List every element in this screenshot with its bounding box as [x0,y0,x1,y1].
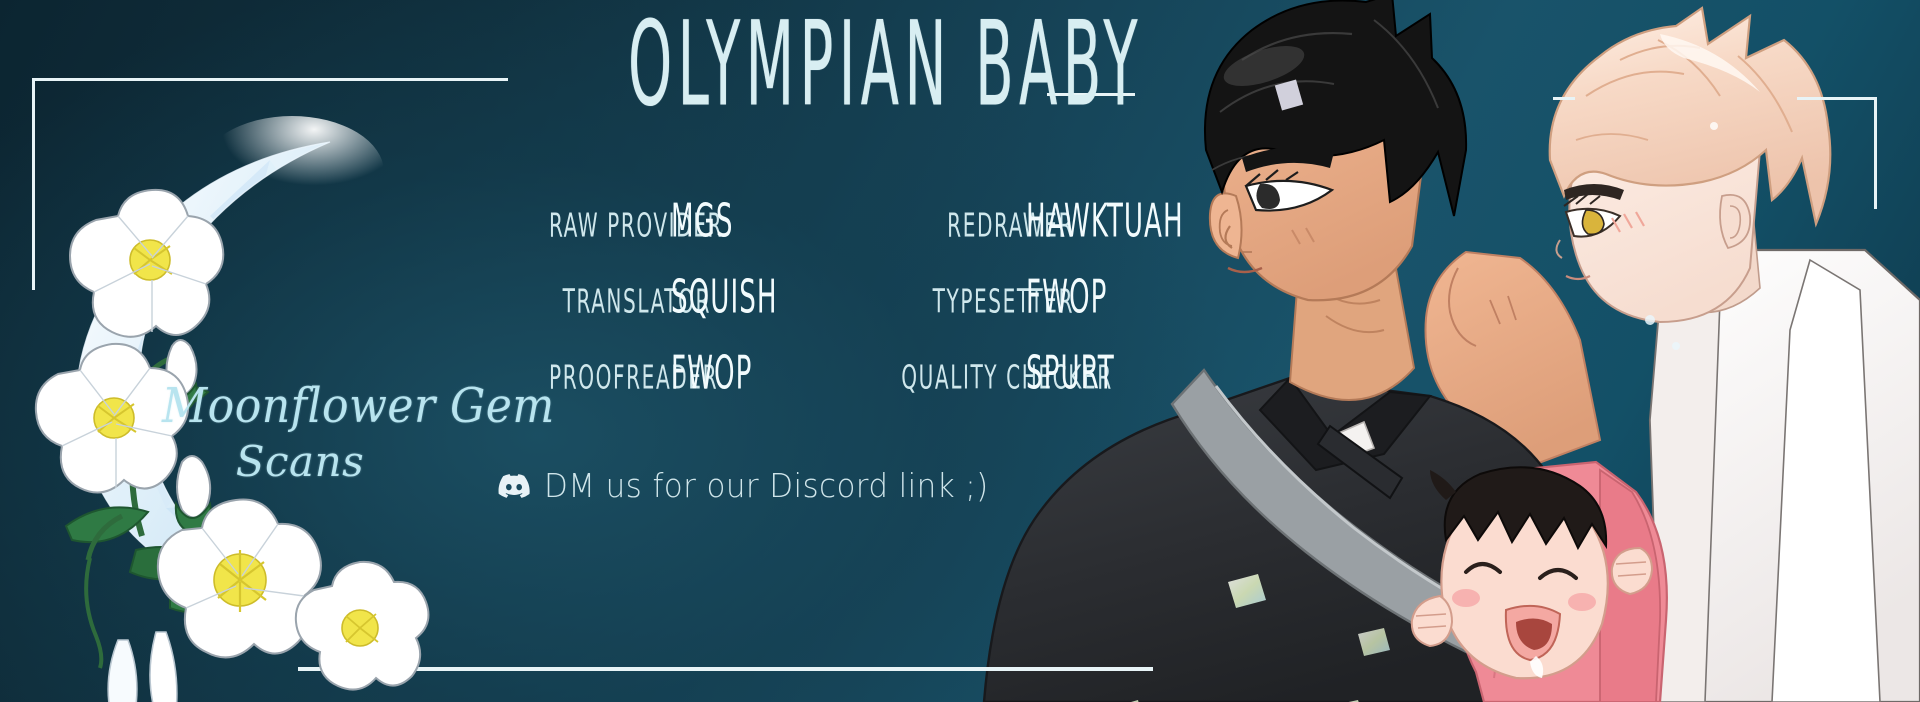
credit-value: SPURT [1026,347,1115,401]
discord-invite[interactable]: DM us for our Discord link ;) [498,466,1017,505]
discord-icon [498,474,530,498]
credit-value: HAWKTUAH [1026,195,1184,249]
credits-banner: Moonflower Gem Scans OLYMPIAN BABY RAW P… [0,0,1920,702]
credit-value: FWOP [671,347,752,401]
frame-line-top-dash [1553,97,1575,100]
credit-row: TYPESETTER FWOP [834,272,1204,348]
credit-row: RAW PROVIDER MGS [486,196,826,272]
discord-text: DM us for our Discord link ;) [544,466,989,505]
frame-line-top-right [1797,97,1877,100]
moonflower-gem-scans-logo: Moonflower Gem Scans [30,120,460,580]
frame-line-top-left [32,78,508,81]
credit-row: TRANSLATOR SQUISH [486,272,826,348]
credits-column-right: REDRAWER HAWKTUAH TYPESETTER FWOP QUALIT… [834,196,1204,424]
credit-row: REDRAWER HAWKTUAH [834,196,1204,272]
page-title: OLYMPIAN BABY [628,1,952,126]
credit-value: FWOP [1026,271,1107,325]
frame-line-right-vertical [1874,97,1877,209]
frame-line-bottom [298,667,1153,671]
credit-value: MGS [671,195,734,249]
credits-column-left: RAW PROVIDER MGS TRANSLATOR SQUISH PROOF… [486,196,826,424]
credit-value: SQUISH [671,271,778,325]
moonflower-icon [36,190,429,702]
credit-row: QUALITY CHECKER SPURT [834,348,1204,424]
credit-row: PROOFREADER FWOP [486,348,826,424]
